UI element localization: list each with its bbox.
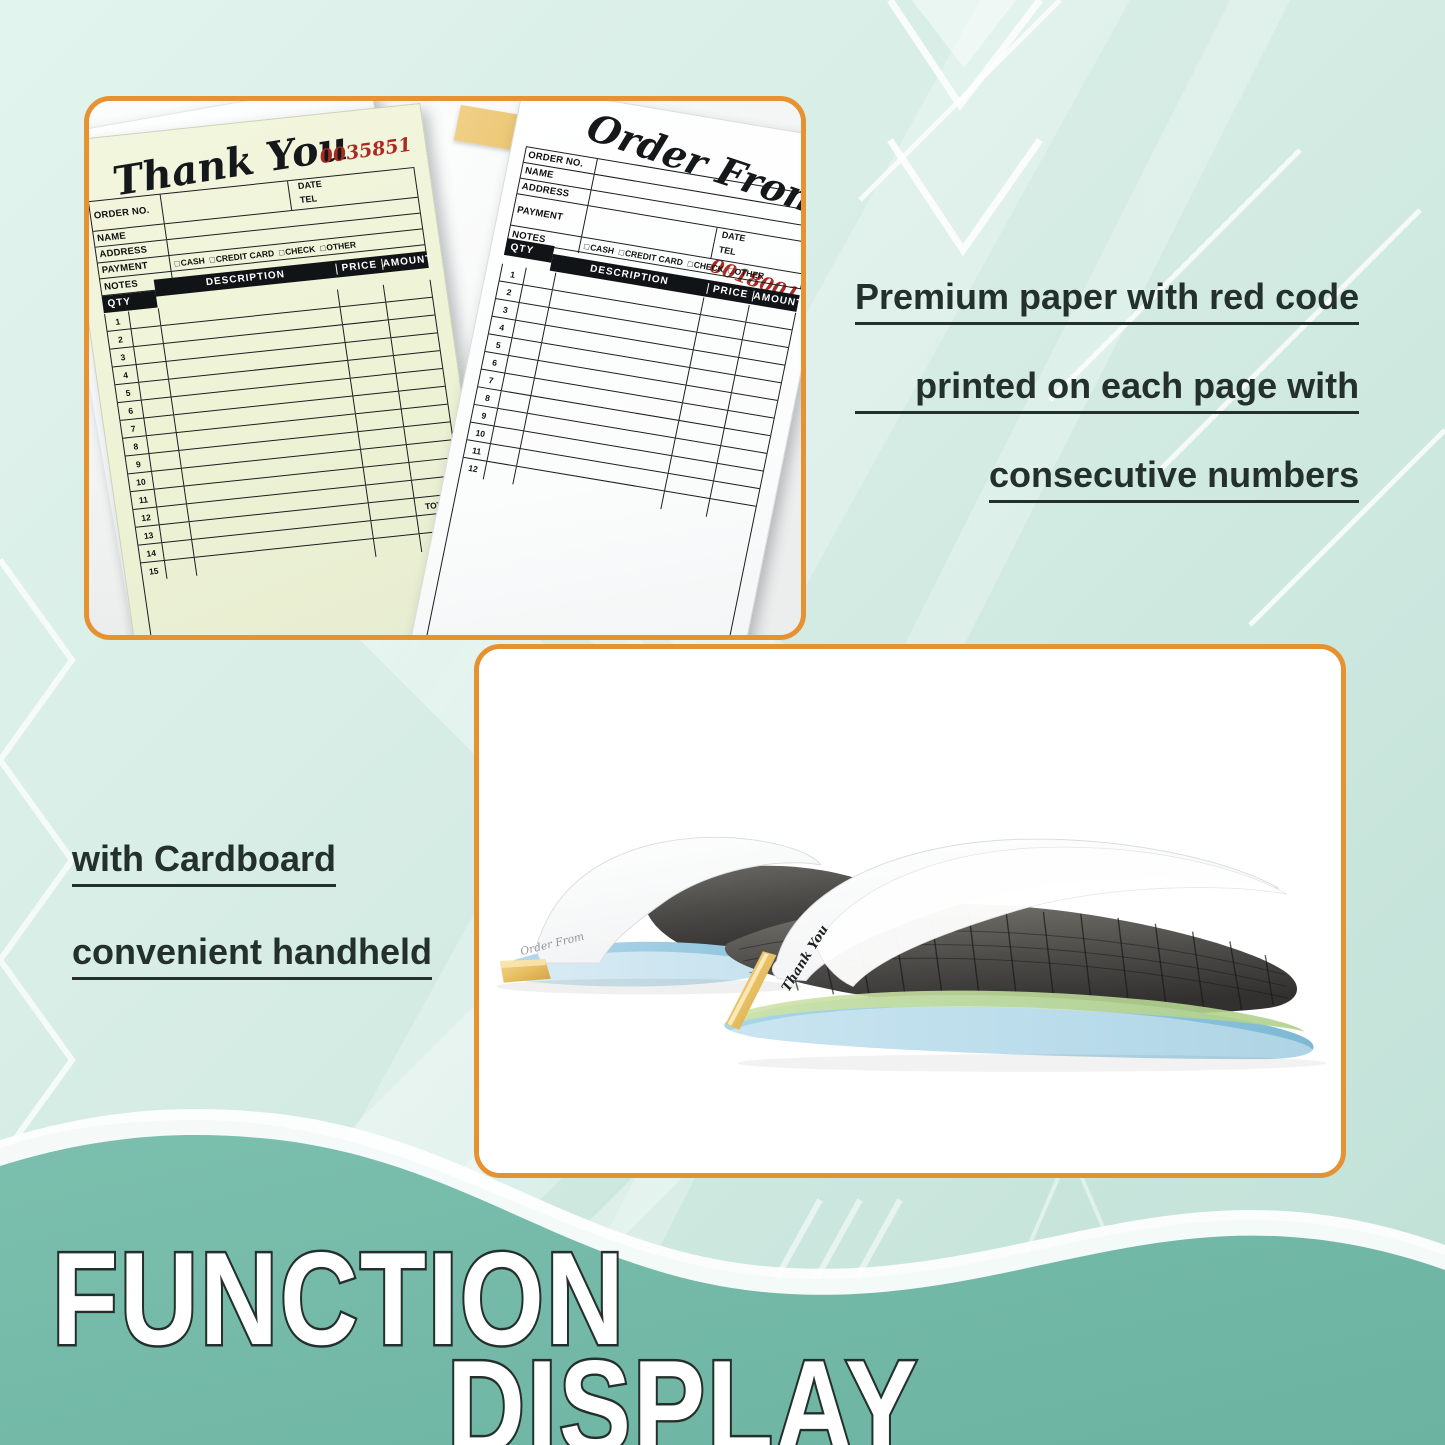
row-number: 1	[105, 311, 131, 330]
caption-line: Premium paper with red code	[855, 276, 1359, 325]
divider	[287, 181, 292, 210]
row-number: 3	[110, 347, 136, 366]
caption-line: convenient handheld	[72, 931, 432, 980]
label-date: DATE	[721, 230, 747, 244]
option-cash: CASH	[583, 241, 615, 256]
receipt-forms-panel: Thank You 0035851 ORDER NO. DATE TEL NAM…	[84, 96, 806, 640]
option-check: CHECK	[278, 243, 316, 257]
label-date: DATE	[297, 179, 322, 191]
row-number: 7	[120, 418, 146, 437]
row-number: 8	[123, 436, 149, 455]
option-check: CHECK	[687, 258, 725, 274]
option-other: OTHER	[319, 239, 356, 253]
row-qty-cell	[152, 469, 184, 489]
caption-line: printed on each page with	[855, 365, 1359, 414]
label-tel: TEL	[718, 244, 737, 257]
amount-header: AMOUNT	[381, 254, 428, 270]
row-qty-cell	[144, 415, 176, 435]
caption-cardboard: with Cardboard convenient handheld	[72, 838, 432, 1024]
book-photo: Order From	[479, 649, 1341, 1173]
row-qty-cell	[142, 397, 174, 417]
row-number: 15	[141, 561, 167, 581]
row-number: 5	[115, 383, 141, 402]
row-qty-cell	[147, 433, 179, 453]
row-number: 11	[131, 490, 157, 509]
forms-photo: Thank You 0035851 ORDER NO. DATE TEL NAM…	[89, 101, 801, 635]
divider	[710, 228, 717, 259]
option-cash: CASH	[174, 255, 206, 268]
row-qty-cell	[484, 462, 517, 485]
row-qty-cell	[155, 487, 187, 507]
row-number: 9	[126, 454, 152, 473]
label-tel: TEL	[299, 193, 317, 205]
row-qty-cell	[134, 344, 166, 364]
option-other: OTHER	[728, 265, 765, 281]
order-from-receipt-slip: Order From 0018001 ORDER NO. NAME ADDRES…	[403, 96, 806, 640]
row-number: 4	[113, 365, 139, 384]
row-qty-cell	[150, 451, 182, 471]
receipt-book-panel: Order From	[474, 644, 1346, 1178]
price-header: PRICE	[335, 259, 382, 275]
row-qty-cell	[160, 522, 192, 542]
row-price-cell	[374, 534, 422, 557]
row-qty-cell	[165, 558, 197, 579]
row-qty-cell	[137, 362, 169, 382]
row-qty-cell	[132, 326, 164, 346]
row-number: 2	[108, 329, 134, 348]
caption-premium-paper: Premium paper with red code printed on e…	[855, 276, 1359, 543]
row-qty-cell	[139, 380, 171, 400]
row-number: 6	[118, 401, 144, 420]
order-from-line-items: 123456789101112	[394, 264, 796, 640]
caption-line: consecutive numbers	[989, 454, 1359, 503]
row-number: 12	[133, 507, 159, 526]
row-qty-cell	[157, 504, 189, 524]
row-number: 13	[136, 525, 162, 544]
caption-line: with Cardboard	[72, 838, 336, 887]
row-number: 10	[128, 472, 154, 491]
row-number: 14	[138, 543, 164, 562]
row-qty-cell	[162, 540, 194, 560]
row-qty-cell	[129, 308, 161, 328]
